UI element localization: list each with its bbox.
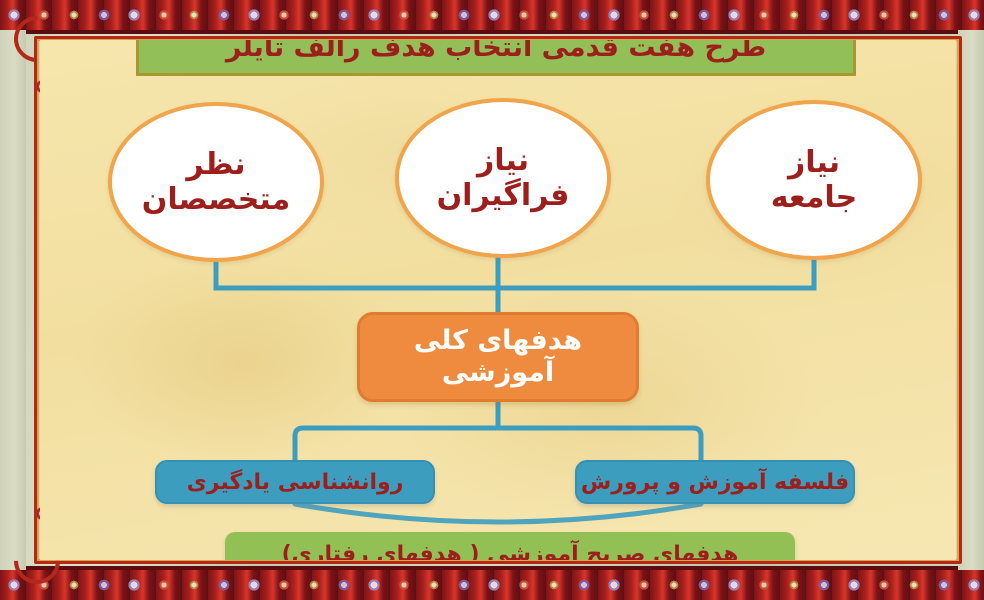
frame-edge-bottom (0, 566, 984, 570)
slide-title: طرح هفت قدمی انتخاب هدف رالف تایلر (136, 40, 856, 76)
general-objectives-line1: هدفهای کلی (414, 325, 582, 357)
filter-box-label: روانشناسی یادگیری (187, 470, 404, 495)
source-ellipse-learner-needs[interactable]: نیاز فراگیران (395, 98, 611, 258)
source-ellipse-line2: فراگیران (437, 178, 570, 213)
filter-box-learning-psychology[interactable]: روانشناسی یادگیری (155, 460, 435, 504)
diagram-area: طرح هفت قدمی انتخاب هدف رالف تایلر نظر م… (40, 40, 956, 560)
source-ellipse-society-needs[interactable]: نیاز جامعه (706, 100, 922, 260)
general-objectives-box[interactable]: هدفهای کلی آموزشی (357, 312, 639, 402)
source-ellipse-line2: متخصصان (142, 182, 290, 217)
behavioral-objectives-box[interactable]: هدفهای صریح آموزشی ( هدفهای رفتاری) (225, 532, 795, 560)
behavioral-objectives-label: هدفهای صریح آموزشی ( هدفهای رفتاری) (282, 542, 739, 561)
source-ellipse-line2: جامعه (771, 180, 858, 215)
source-ellipse-line1: نیاز (477, 143, 529, 178)
slide-title-text: طرح هفت قدمی انتخاب هدف رالف تایلر (226, 40, 766, 63)
source-ellipse-line1: نظر (186, 147, 245, 182)
frame-side-left (0, 30, 26, 570)
source-ellipse-line1: نیاز (788, 145, 840, 180)
filter-box-philosophy-of-education[interactable]: فلسفه آموزش و پرورش (575, 460, 855, 504)
general-objectives-line2: آموزشی (442, 357, 554, 389)
source-ellipse-expert-opinion[interactable]: نظر متخصصان (108, 102, 324, 262)
filter-box-label: فلسفه آموزش و پرورش (581, 470, 849, 495)
frame-floral-pattern-bottom (0, 570, 984, 600)
slide-canvas: طرح هفت قدمی انتخاب هدف رالف تایلر نظر م… (0, 0, 984, 600)
frame-floral-pattern-top (0, 0, 984, 30)
frame-edge-top (0, 30, 984, 34)
